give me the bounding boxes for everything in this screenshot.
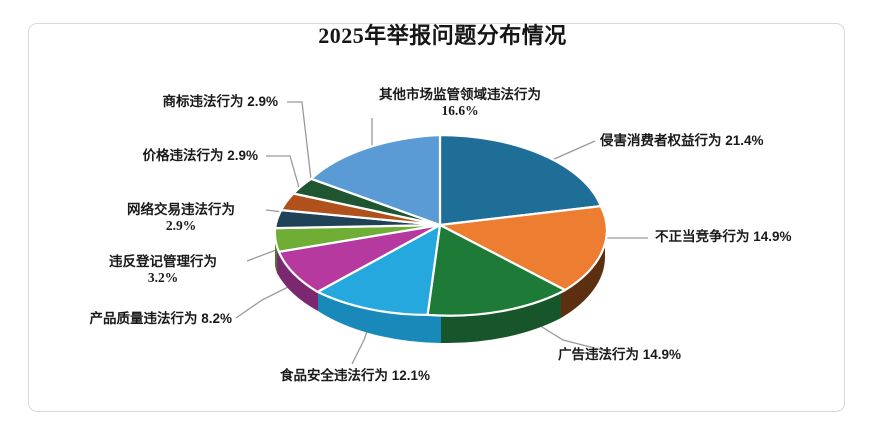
pie-label-unfair-competition: 不正当竞争行为 14.9%: [655, 229, 792, 245]
pie-top-faces: [275, 135, 607, 316]
pie-label-unfair-competition-line1: 不正当竞争行为 14.9%: [655, 229, 792, 245]
pie-label-food-safety-line1: 食品安全违法行为 12.1%: [255, 368, 455, 384]
pie-label-advertising-violation-line1: 广告违法行为 14.9%: [558, 347, 681, 363]
pie-label-online-trading: 网络交易违法行为 2.9%: [105, 202, 257, 234]
leader-line-trademark-violation: [287, 102, 312, 188]
pie-label-trademark-violation-line1: 商标违法行为 2.9%: [80, 94, 278, 110]
pie-label-other-market-supervision-line2: 16.6%: [330, 103, 590, 119]
pie-label-food-safety: 食品安全违法行为 12.1%: [255, 368, 455, 384]
pie-label-advertising-violation: 广告违法行为 14.9%: [558, 347, 681, 363]
pie-label-product-quality: 产品质量违法行为 8.2%: [20, 311, 232, 327]
pie-label-other-market-supervision: 其他市场监管领域违法行为 16.6%: [330, 87, 590, 119]
pie-label-online-trading-line1: 网络交易违法行为: [105, 202, 257, 218]
pie-label-registration-management-line1: 违反登记管理行为: [88, 254, 238, 270]
pie-label-price-violation-line1: 价格违法行为 2.9%: [60, 148, 258, 164]
pie-label-other-market-supervision-line1: 其他市场监管领域违法行为: [330, 87, 590, 103]
pie-label-trademark-violation: 商标违法行为 2.9%: [80, 94, 278, 110]
pie-label-price-violation: 价格违法行为 2.9%: [60, 148, 258, 164]
pie-label-consumer-rights: 侵害消费者权益行为 21.4%: [600, 133, 764, 149]
pie-label-consumer-rights-line1: 侵害消费者权益行为 21.4%: [600, 133, 764, 149]
pie-label-registration-management-line2: 3.2%: [88, 270, 238, 286]
pie-label-registration-management: 违反登记管理行为 3.2%: [88, 254, 238, 286]
pie-label-online-trading-line2: 2.9%: [105, 218, 257, 234]
pie-label-product-quality-line1: 产品质量违法行为 8.2%: [20, 311, 232, 327]
